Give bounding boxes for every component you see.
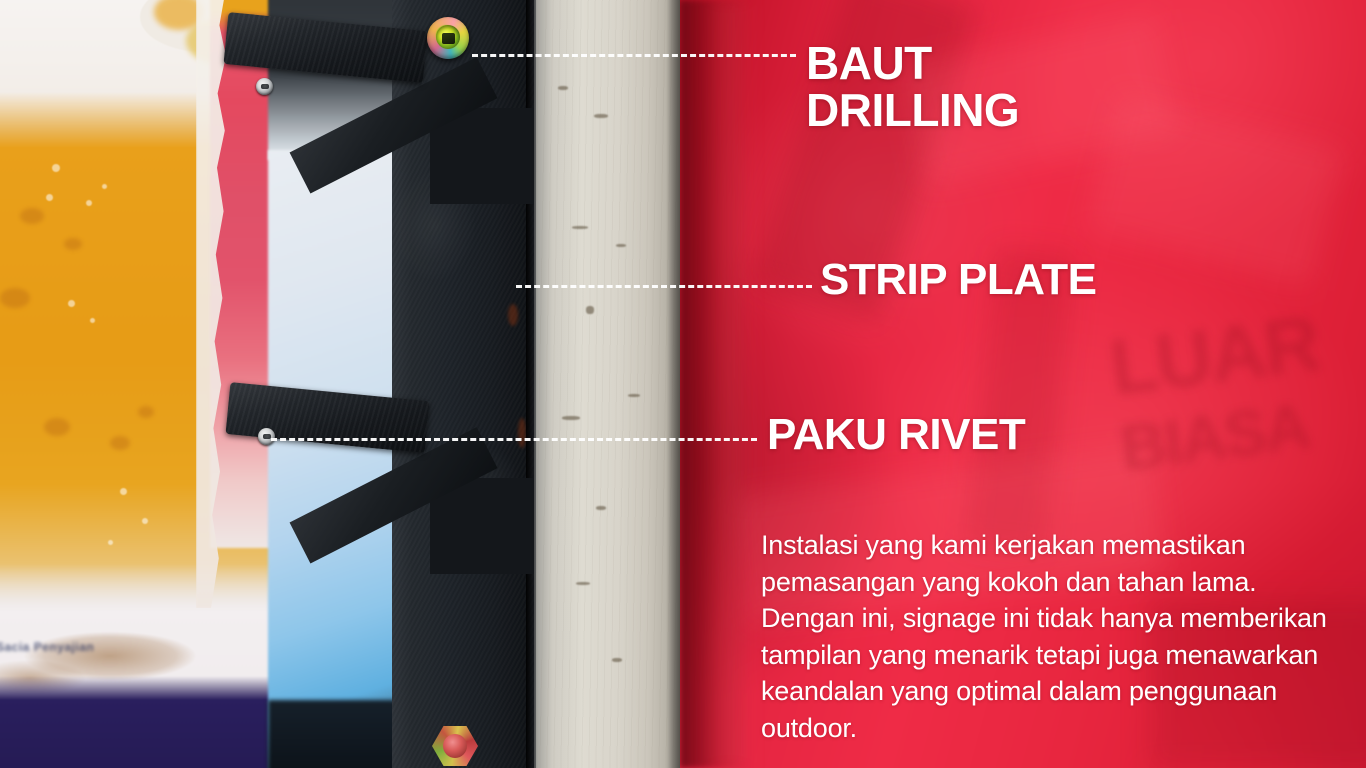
rivet-upper (256, 78, 273, 95)
background-sky-gap (268, 150, 400, 768)
leader-line-baut-drilling (472, 54, 796, 57)
grey-metal-pole (532, 0, 680, 768)
background-lower-dark (268, 700, 408, 768)
callout-label-paku-rivet: PAKU RIVET (767, 413, 1025, 457)
description-paragraph: Instalasi yang kami kerjakan memastikan … (761, 527, 1341, 746)
installation-photo: Sacia Penyajian (0, 0, 682, 768)
panel-light-sheen (702, 0, 756, 768)
leader-line-strip-plate (516, 285, 812, 288)
callout-label-baut-drilling: BAUT DRILLING (806, 40, 1019, 134)
callout-label-strip-plate: STRIP PLATE (820, 258, 1096, 302)
leader-line-paku-rivet (271, 438, 757, 441)
banner-caption-text: Sacia Penyajian (0, 640, 156, 656)
infographic-canvas: Sacia Penyajian (0, 0, 1366, 768)
rivet-lower (258, 428, 275, 445)
drilling-bolt-top (427, 17, 469, 59)
